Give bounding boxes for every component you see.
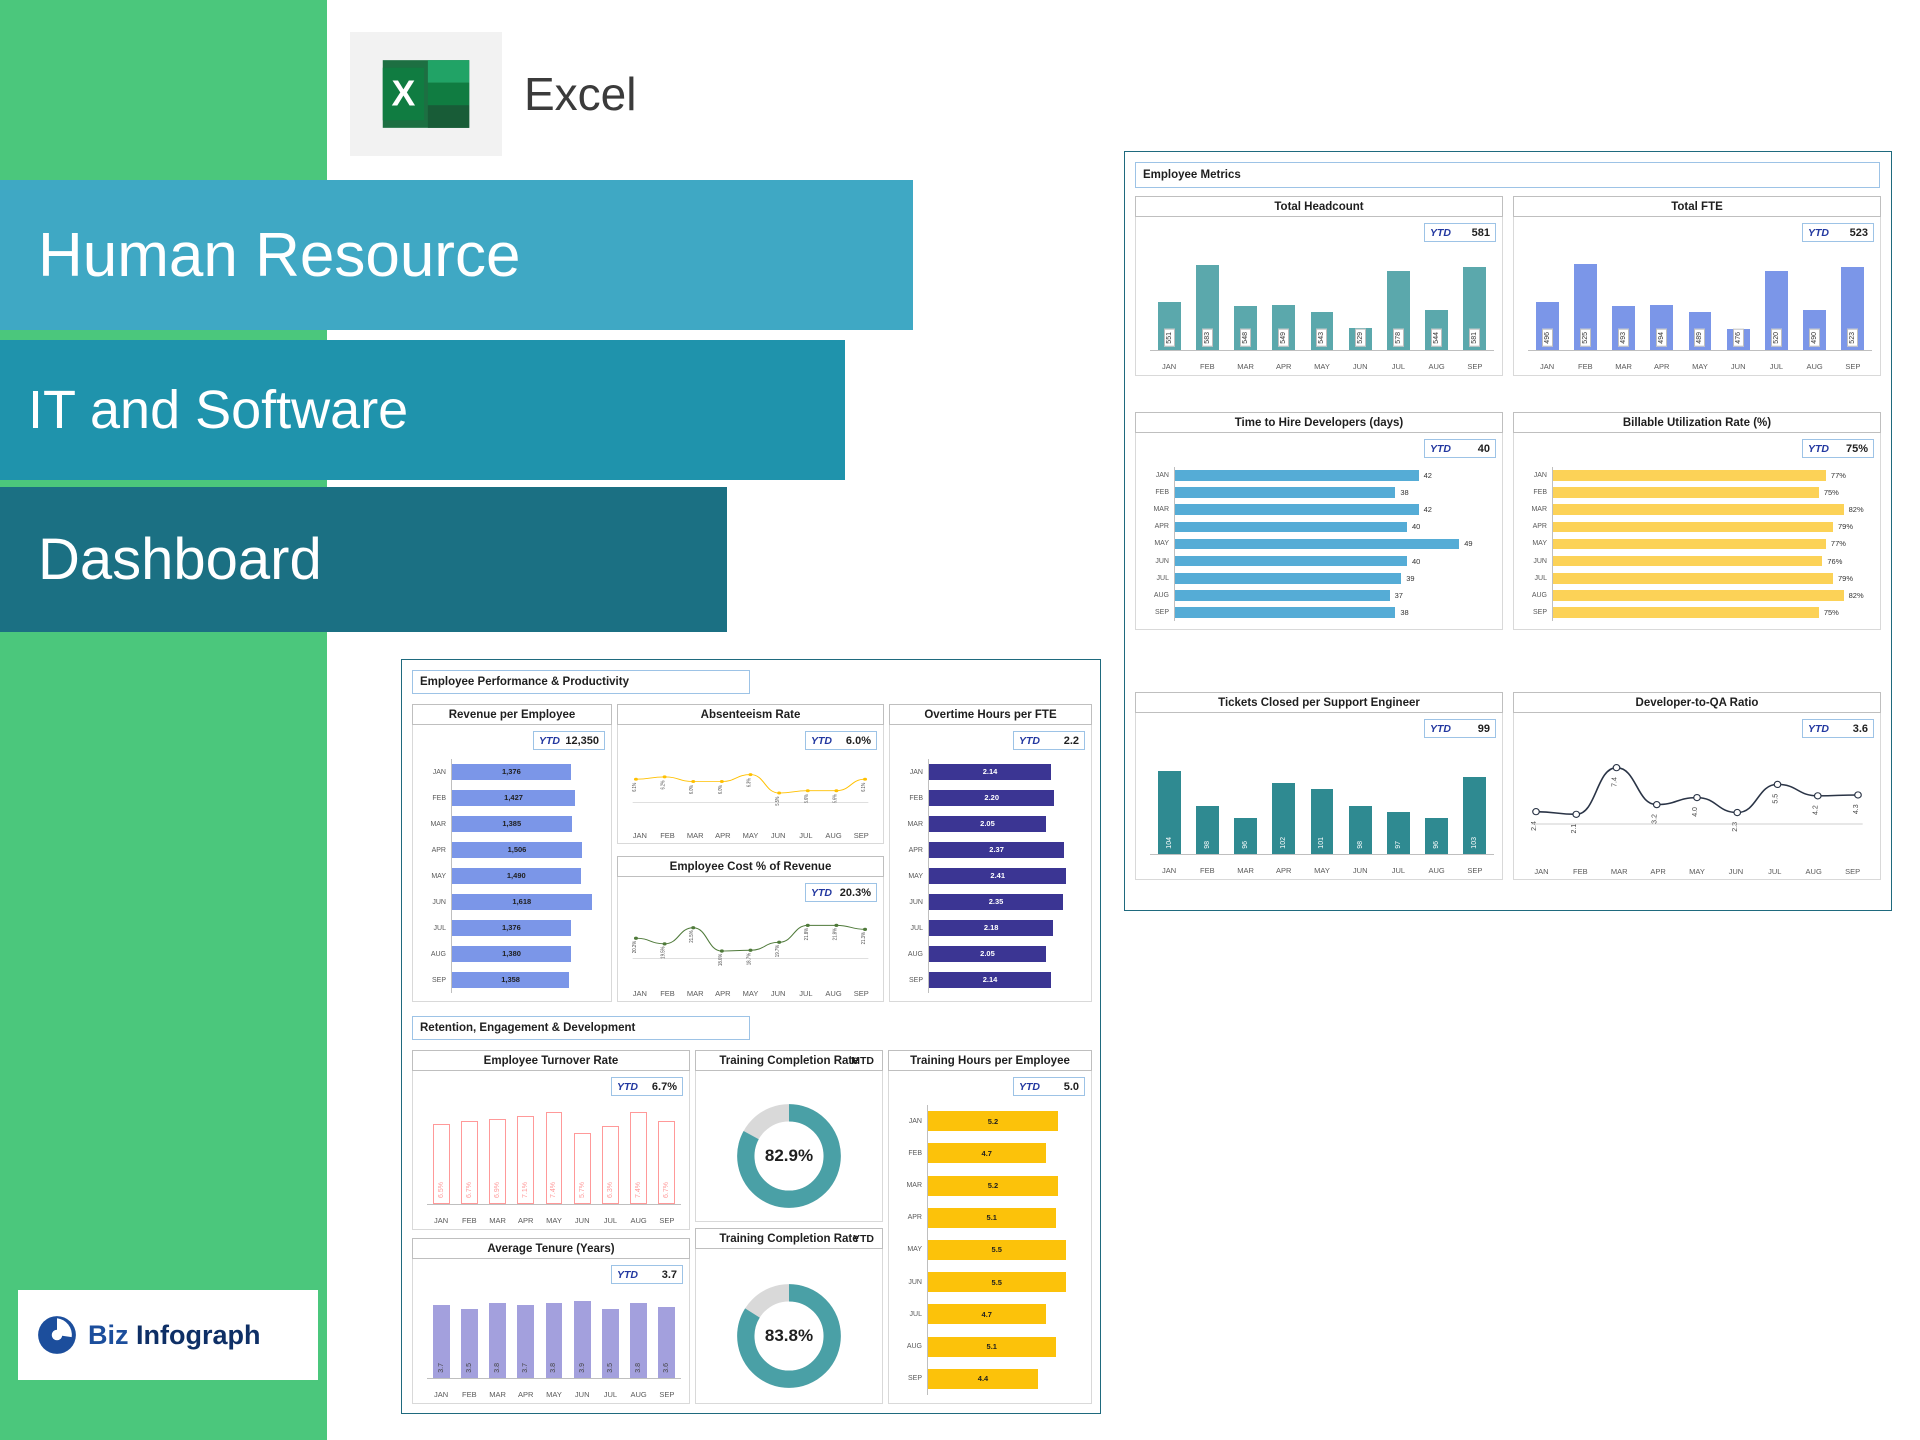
bar-value-label: 40 xyxy=(1412,557,1420,566)
bar-track: 77% xyxy=(1552,535,1872,552)
bar: 7.4% xyxy=(546,1112,563,1204)
bar-group: 529 xyxy=(1341,251,1379,350)
period-badge-mtd: MTD xyxy=(851,1055,874,1067)
card-training-completion-mtd-header: Training Completion Rate MTD xyxy=(695,1050,883,1071)
axis-tick-label: JAN xyxy=(626,989,654,998)
bar: 5.7% xyxy=(574,1133,591,1204)
axis-tick-label: MAY xyxy=(737,989,765,998)
bar-group: 496 xyxy=(1528,251,1566,350)
card-total-headcount-header: Total Headcount xyxy=(1135,196,1503,217)
axis-tick-label: MAY xyxy=(1144,540,1174,547)
axis-tick-label: APR xyxy=(1639,867,1678,876)
bar-group: 490 xyxy=(1796,251,1834,350)
bar: 96 xyxy=(1234,818,1257,854)
bar-track: 2.37 xyxy=(928,837,1083,863)
axis-tick-label: FEB xyxy=(654,831,682,840)
ytd-value: 75% xyxy=(1834,443,1868,455)
axis-tick-label: FEB xyxy=(1522,489,1552,496)
bar-value-label: 3.5 xyxy=(606,1361,615,1375)
card-time-to-hire-header: Time to Hire Developers (days) xyxy=(1135,412,1503,433)
svg-text:3.2: 3.2 xyxy=(1650,814,1659,824)
bar-value-label: 5.5 xyxy=(992,1245,1002,1254)
axis-tick-label: JUL xyxy=(1522,575,1552,582)
bar: 98 xyxy=(1349,806,1372,854)
ytd-badge-training-hours: YTD 5.0 xyxy=(1013,1077,1085,1096)
bar-value-label: 583 xyxy=(1202,329,1213,347)
bar-value-label: 1,376 xyxy=(502,767,521,776)
title-band-1-text: Human Resource xyxy=(38,220,520,291)
bar: 3.8 xyxy=(489,1303,506,1378)
bar-track: 42 xyxy=(1174,501,1494,518)
axis-tick-label: JUL xyxy=(1144,575,1174,582)
period-badge-ytd: YTD xyxy=(853,1233,874,1245)
axis-tick-label: SEP xyxy=(421,977,451,984)
card-billable-utilization-body: YTD 75% JAN77%FEB75%MAR82%APR79%MAY77%JU… xyxy=(1513,433,1881,630)
bar: 103 xyxy=(1463,777,1486,854)
axis-tick-label: SEP xyxy=(847,831,875,840)
axis-tick-label: MAR xyxy=(898,821,928,828)
axis-tick-label: APR xyxy=(1265,362,1303,371)
bar-row: JAN42 xyxy=(1144,467,1494,484)
bar-track: 82% xyxy=(1552,587,1872,604)
axis-tick-label: AUG xyxy=(820,989,848,998)
ytd-label: YTD xyxy=(811,735,832,747)
svg-text:5.5%: 5.5% xyxy=(775,797,781,806)
bar: 101 xyxy=(1311,789,1334,854)
bar-value-label: 38 xyxy=(1400,488,1408,497)
bar-group: 581 xyxy=(1456,251,1494,350)
bar-track: 40 xyxy=(1174,553,1494,570)
bar: 3.5 xyxy=(461,1309,478,1378)
ytd-label: YTD xyxy=(1019,735,1040,747)
card-employee-cost-title: Employee Cost % of Revenue xyxy=(670,861,832,873)
bar-value-label: 4.7 xyxy=(982,1310,992,1319)
card-billable-utilization-header: Billable Utilization Rate (%) xyxy=(1513,412,1881,433)
axis-tick-label: JUL xyxy=(421,925,451,932)
axis-tick-label: MAY xyxy=(540,1390,568,1399)
bar-track: 1,380 xyxy=(451,941,603,967)
bar-track: 2.20 xyxy=(928,785,1083,811)
bar xyxy=(1553,522,1833,533)
bar-group: 551 xyxy=(1150,251,1188,350)
bar-value-label: 79% xyxy=(1838,522,1853,531)
bar: 98 xyxy=(1196,806,1219,854)
bar-row: SEP75% xyxy=(1522,604,1872,621)
card-employee-cost-body: YTD 20.3% 20.2%19.5%21.5%18.6%18.7%19.7%… xyxy=(617,877,884,1002)
svg-text:7.4: 7.4 xyxy=(1609,777,1618,787)
chart-employee-cost-xaxis: JANFEBMARAPRMAYJUNJULAUGSEP xyxy=(626,989,875,998)
bar-track: 38 xyxy=(1174,604,1494,621)
bar-value-label: 3.8 xyxy=(549,1361,558,1375)
axis-tick-label: JAN xyxy=(1522,867,1561,876)
axis-tick-label: JUN xyxy=(1341,362,1379,371)
ytd-label: YTD xyxy=(1430,723,1451,735)
bar-track: 1,618 xyxy=(451,889,603,915)
axis-tick-label: FEB xyxy=(897,1150,927,1157)
bar: 520 xyxy=(1765,271,1788,350)
bar-group: 96 xyxy=(1418,747,1456,854)
axis-tick-label: APR xyxy=(1144,523,1174,530)
bar xyxy=(1553,504,1844,515)
bar-value-label: 1,385 xyxy=(502,819,521,828)
bar: 578 xyxy=(1387,271,1410,350)
bar-track: 1,490 xyxy=(451,863,603,889)
bar-value-label: 82% xyxy=(1849,591,1864,600)
performance-section-title-text: Employee Performance & Productivity xyxy=(420,676,629,688)
bar-track: 38 xyxy=(1174,484,1494,501)
bar-value-label: 38 xyxy=(1400,608,1408,617)
axis-tick-label: MAR xyxy=(1522,506,1552,513)
bar-value-label: 496 xyxy=(1542,329,1553,347)
bar-row: MAY1,490 xyxy=(421,863,603,889)
bar-group: 3.6 xyxy=(653,1293,681,1378)
chart-turnover-rate-xaxis: JANFEBMARAPRMAYJUNJULAUGSEP xyxy=(427,1216,681,1225)
bar-track: 2.35 xyxy=(928,889,1083,915)
bar-track: 4.7 xyxy=(927,1137,1083,1169)
axis-tick-label: AUG xyxy=(1522,592,1552,599)
axis-tick-label: JAN xyxy=(1150,362,1188,371)
bar-value-label: 548 xyxy=(1240,329,1251,347)
bar-value-label: 6.5% xyxy=(437,1180,446,1200)
chart-absenteeism-rate: 6.1%6.2%6.0%6.0%6.3%5.5%5.6%5.6%6.1% xyxy=(626,759,875,821)
svg-text:19.7%: 19.7% xyxy=(775,944,782,957)
svg-text:19.5%: 19.5% xyxy=(660,946,667,959)
bar-value-label: 6.9% xyxy=(493,1180,502,1200)
bar-value-label: 2.20 xyxy=(984,793,999,802)
chart-total-fte-xaxis: JANFEBMARAPRMAYJUNJULAUGSEP xyxy=(1528,362,1872,371)
bar-row: JAN77% xyxy=(1522,467,1872,484)
bar-group: 104 xyxy=(1150,747,1188,854)
ytd-value: 6.0% xyxy=(837,735,871,747)
bar-group: 3.7 xyxy=(512,1293,540,1378)
bar-track: 76% xyxy=(1552,553,1872,570)
axis-tick-label: AUG xyxy=(1418,866,1456,875)
bar: 581 xyxy=(1463,267,1486,350)
bar-group: 548 xyxy=(1226,251,1264,350)
bar-track: 40 xyxy=(1174,518,1494,535)
bar-row: JUL79% xyxy=(1522,570,1872,587)
bar-group: 3.9 xyxy=(568,1293,596,1378)
bar xyxy=(1553,470,1826,481)
bar-value-label: 2.14 xyxy=(983,975,998,984)
card-training-hours-body: YTD 5.0 JAN5.2FEB4.7MAR5.2APR5.1MAY5.5JU… xyxy=(888,1071,1092,1404)
bar-value-label: 523 xyxy=(1847,329,1858,347)
bar-track: 1,376 xyxy=(451,759,603,785)
ytd-label: YTD xyxy=(1808,227,1829,239)
bar-group: 3.7 xyxy=(427,1293,455,1378)
bar: 1,490 xyxy=(452,868,581,884)
bar-value-label: 4.4 xyxy=(978,1374,988,1383)
bar-row: FEB75% xyxy=(1522,484,1872,501)
bar-row: MAR82% xyxy=(1522,501,1872,518)
bar-value-label: 3.7 xyxy=(437,1361,446,1375)
axis-tick-label: MAR xyxy=(681,831,709,840)
title-band-3-text: Dashboard xyxy=(38,526,322,593)
card-total-headcount-title: Total Headcount xyxy=(1274,201,1363,213)
svg-text:21.8%: 21.8% xyxy=(803,927,810,940)
svg-text:6.3%: 6.3% xyxy=(746,778,752,787)
bar-track: 5.5 xyxy=(927,1266,1083,1298)
svg-text:6.0%: 6.0% xyxy=(689,785,695,794)
card-absenteeism-rate-body: YTD 6.0% 6.1%6.2%6.0%6.0%6.3%5.5%5.6%5.6… xyxy=(617,725,884,844)
logo-word-infograph: Infograph xyxy=(136,1320,260,1350)
bar-value-label: 5.2 xyxy=(988,1117,998,1126)
axis-tick-label: JAN xyxy=(1528,362,1566,371)
bar-group: 98 xyxy=(1188,747,1226,854)
bar-group: 96 xyxy=(1226,747,1264,854)
axis-tick-label: APR xyxy=(709,989,737,998)
bar-row: APR5.1 xyxy=(897,1202,1083,1234)
bar-row: AUG37 xyxy=(1144,587,1494,604)
title-band-2: IT and Software xyxy=(0,340,845,480)
axis-tick-label: JUN xyxy=(1719,362,1757,371)
bar-group: 3.5 xyxy=(596,1293,624,1378)
bar-group: 494 xyxy=(1643,251,1681,350)
title-band-2-text: IT and Software xyxy=(28,379,408,441)
bar-value-label: 76% xyxy=(1827,557,1842,566)
axis-tick-label: JUL xyxy=(1379,866,1417,875)
axis-tick-label: MAY xyxy=(1522,540,1552,547)
bar-value-label: 6.7% xyxy=(662,1180,671,1200)
retention-section-title: Retention, Engagement & Development xyxy=(412,1016,750,1040)
bar-row: AUG82% xyxy=(1522,587,1872,604)
bar-row: APR79% xyxy=(1522,518,1872,535)
card-tickets-closed-header: Tickets Closed per Support Engineer xyxy=(1135,692,1503,713)
bar-value-label: 2.18 xyxy=(984,923,999,932)
bar-track: 1,427 xyxy=(451,785,603,811)
bar-track: 2.05 xyxy=(928,811,1083,837)
bar-value-label: 1,490 xyxy=(507,871,526,880)
axis-tick-label: MAR xyxy=(681,989,709,998)
axis-tick-label: JAN xyxy=(427,1390,455,1399)
bar-value-label: 1,376 xyxy=(502,923,521,932)
axis-tick-label: AUG xyxy=(625,1216,653,1225)
bar-value-label: 1,358 xyxy=(501,975,520,984)
axis-tick-label: MAR xyxy=(897,1182,927,1189)
ytd-value: 523 xyxy=(1834,227,1868,239)
axis-tick-label: APR xyxy=(512,1390,540,1399)
card-training-completion-mtd-title: Training Completion Rate xyxy=(719,1055,858,1067)
ytd-value: 99 xyxy=(1456,723,1490,735)
bar-track: 5.1 xyxy=(927,1331,1083,1363)
bar-value-label: 96 xyxy=(1432,839,1441,851)
ytd-label: YTD xyxy=(1808,443,1829,455)
axis-tick-label: JUN xyxy=(568,1390,596,1399)
employee-metrics-section-title: Employee Metrics xyxy=(1135,162,1880,188)
bar-value-label: 6.3% xyxy=(606,1180,615,1200)
bar: 4.4 xyxy=(928,1369,1038,1389)
axis-tick-label: JAN xyxy=(898,769,928,776)
axis-tick-label: SEP xyxy=(1144,609,1174,616)
bar-value-label: 2.05 xyxy=(980,949,995,958)
bar-value-label: 3.5 xyxy=(465,1361,474,1375)
axis-tick-label: JUL xyxy=(1755,867,1794,876)
ytd-label: YTD xyxy=(1430,443,1451,455)
bar: 6.9% xyxy=(489,1119,506,1204)
axis-tick-label: JUL xyxy=(897,1311,927,1318)
bar-track: 5.5 xyxy=(927,1234,1083,1266)
ytd-label: YTD xyxy=(617,1081,638,1093)
bar: 5.1 xyxy=(928,1208,1056,1228)
card-time-to-hire-body: YTD 40 JAN42FEB38MAR42APR40MAY49JUN40JUL… xyxy=(1135,433,1503,630)
bar: 6.7% xyxy=(658,1121,675,1204)
bar-value-label: 2.37 xyxy=(989,845,1004,854)
bar: 2.41 xyxy=(929,868,1066,884)
bar-value-label: 1,380 xyxy=(502,949,521,958)
axis-tick-label: FEB xyxy=(1566,362,1604,371)
bar-track: 4.7 xyxy=(927,1298,1083,1330)
bar: 494 xyxy=(1650,305,1673,350)
bar-group: 523 xyxy=(1834,251,1872,350)
bar-group: 476 xyxy=(1719,251,1757,350)
axis-tick-label: FEB xyxy=(654,989,682,998)
bar xyxy=(1553,607,1819,618)
bar-row: JUL4.7 xyxy=(897,1298,1083,1330)
card-tickets-closed-body: YTD 99 1049896102101989796103 JANFEBMARA… xyxy=(1135,713,1503,880)
card-training-completion-ytd-body: 83.8% xyxy=(695,1249,883,1404)
axis-tick-label: MAY xyxy=(1678,867,1717,876)
bar-track: 75% xyxy=(1552,484,1872,501)
bar-value-label: 103 xyxy=(1470,835,1479,851)
svg-text:5.5: 5.5 xyxy=(1770,794,1779,804)
bar-track: 75% xyxy=(1552,604,1872,621)
card-revenue-per-employee-title: Revenue per Employee xyxy=(449,709,576,721)
axis-tick-label: JAN xyxy=(427,1216,455,1225)
axis-tick-label: JUN xyxy=(1716,867,1755,876)
axis-tick-label: JUL xyxy=(596,1390,624,1399)
axis-tick-label: APR xyxy=(421,847,451,854)
bar-value-label: 5.5 xyxy=(992,1278,1002,1287)
bar-track: 5.2 xyxy=(927,1105,1083,1137)
bar-track: 5.2 xyxy=(927,1169,1083,1201)
bar-value-label: 525 xyxy=(1580,329,1591,347)
retention-section-title-text: Retention, Engagement & Development xyxy=(420,1022,635,1034)
card-employee-cost-header: Employee Cost % of Revenue xyxy=(617,856,884,877)
axis-tick-label: MAR xyxy=(421,821,451,828)
bar: 7.1% xyxy=(517,1116,534,1204)
card-average-tenure-body: YTD 3.7 3.73.53.83.73.83.93.53.83.6 JANF… xyxy=(412,1259,690,1404)
bar: 5.5 xyxy=(928,1240,1066,1260)
bar: 5.2 xyxy=(928,1176,1058,1196)
axis-tick-label: APR xyxy=(1643,362,1681,371)
card-revenue-per-employee-header: Revenue per Employee xyxy=(412,704,612,725)
logo-wordmark: Biz Infograph xyxy=(88,1320,261,1351)
bar-value-label: 2.35 xyxy=(989,897,1004,906)
bar xyxy=(1175,487,1395,498)
ytd-value: 2.2 xyxy=(1045,735,1079,747)
bar-group: 3.8 xyxy=(483,1293,511,1378)
card-training-completion-ytd: Training Completion Rate YTD 83.8% xyxy=(695,1228,883,1404)
ytd-badge-overtime-hours: YTD 2.2 xyxy=(1013,731,1085,750)
bar-row: APR40 xyxy=(1144,518,1494,535)
axis-tick-label: JUL xyxy=(792,831,820,840)
bar: 1,427 xyxy=(452,790,575,806)
bar-value-label: 104 xyxy=(1165,835,1174,851)
axis-tick-label: SEP xyxy=(1456,866,1494,875)
card-total-fte-header: Total FTE xyxy=(1513,196,1881,217)
bar-track: 1,385 xyxy=(451,811,603,837)
axis-tick-label: SEP xyxy=(1834,362,1872,371)
bar-row: JUN76% xyxy=(1522,553,1872,570)
bar: 543 xyxy=(1311,312,1334,350)
donut-center-label: 83.8% xyxy=(765,1326,813,1346)
bar xyxy=(1175,590,1390,601)
axis-tick-label: JUL xyxy=(596,1216,624,1225)
ytd-label: YTD xyxy=(1808,723,1829,735)
axis-tick-label: APR xyxy=(1522,523,1552,530)
bar-value-label: 75% xyxy=(1824,608,1839,617)
card-time-to-hire: Time to Hire Developers (days) YTD 40 JA… xyxy=(1135,412,1503,630)
axis-tick-label: AUG xyxy=(1144,592,1174,599)
axis-tick-label: MAR xyxy=(1144,506,1174,513)
ytd-badge-time-to-hire: YTD 40 xyxy=(1424,439,1496,458)
bar-value-label: 489 xyxy=(1694,329,1705,347)
card-tickets-closed-title: Tickets Closed per Support Engineer xyxy=(1218,697,1420,709)
axis-tick-label: AUG xyxy=(1796,362,1834,371)
bar-group: 6.9% xyxy=(483,1105,511,1204)
bar: 2.05 xyxy=(929,816,1046,832)
bar: 6.5% xyxy=(433,1124,450,1204)
card-average-tenure-title: Average Tenure (Years) xyxy=(487,1243,614,1255)
bar: 5.1 xyxy=(928,1337,1056,1357)
axis-tick-label: FEB xyxy=(1144,489,1174,496)
bar: 496 xyxy=(1536,302,1559,350)
bar-track: 2.05 xyxy=(928,941,1083,967)
line-chart-svg: 6.1%6.2%6.0%6.0%6.3%5.5%5.6%5.6%6.1% xyxy=(626,759,875,821)
pie-logo-icon xyxy=(36,1314,78,1356)
card-training-completion-mtd-body: 82.9% xyxy=(695,1071,883,1222)
bar-group: 103 xyxy=(1456,747,1494,854)
ytd-badge-revenue-per-employee: YTD 12,350 xyxy=(533,731,605,750)
bar-group: 549 xyxy=(1265,251,1303,350)
bar: 476 xyxy=(1727,329,1750,350)
bar-row: MAR1,385 xyxy=(421,811,603,837)
bar: 1,358 xyxy=(452,972,569,988)
bar-row: SEP38 xyxy=(1144,604,1494,621)
bar-value-label: 529 xyxy=(1355,329,1366,347)
bar-group: 6.3% xyxy=(596,1105,624,1204)
bar-value-label: 3.6 xyxy=(662,1361,671,1375)
axis-tick-label: JAN xyxy=(1522,472,1552,479)
bar-value-label: 2.05 xyxy=(980,819,995,828)
bar-group: 493 xyxy=(1604,251,1642,350)
card-overtime-hours-header: Overtime Hours per FTE xyxy=(889,704,1092,725)
bar xyxy=(1175,539,1459,550)
bar-value-label: 2.14 xyxy=(983,767,998,776)
axis-tick-label: SEP xyxy=(897,1375,927,1382)
excel-branding: X Excel xyxy=(350,32,636,156)
bar-value-label: 581 xyxy=(1469,329,1480,347)
bar-group: 102 xyxy=(1265,747,1303,854)
bar-track: 2.14 xyxy=(928,967,1083,993)
card-overtime-hours: Overtime Hours per FTE YTD 2.2 JAN2.14FE… xyxy=(889,704,1092,1002)
card-turnover-rate-title: Employee Turnover Rate xyxy=(484,1055,619,1067)
axis-tick-label: FEB xyxy=(1188,866,1226,875)
bar: 544 xyxy=(1425,310,1448,350)
bar: 3.8 xyxy=(630,1303,647,1378)
bar-row: FEB2.20 xyxy=(898,785,1083,811)
bar-value-label: 493 xyxy=(1618,329,1629,347)
bar-row: JAN2.14 xyxy=(898,759,1083,785)
bar-row: JUL39 xyxy=(1144,570,1494,587)
axis-tick-label: JUN xyxy=(1341,866,1379,875)
chart-total-headcount: 551583548549543529578544581 xyxy=(1150,251,1494,351)
axis-tick-label: MAY xyxy=(1303,866,1341,875)
axis-tick-label: MAR xyxy=(483,1390,511,1399)
card-total-headcount-body: YTD 581 551583548549543529578544581 JANF… xyxy=(1135,217,1503,376)
bar-value-label: 37 xyxy=(1395,591,1403,600)
axis-tick-label: MAY xyxy=(421,873,451,880)
